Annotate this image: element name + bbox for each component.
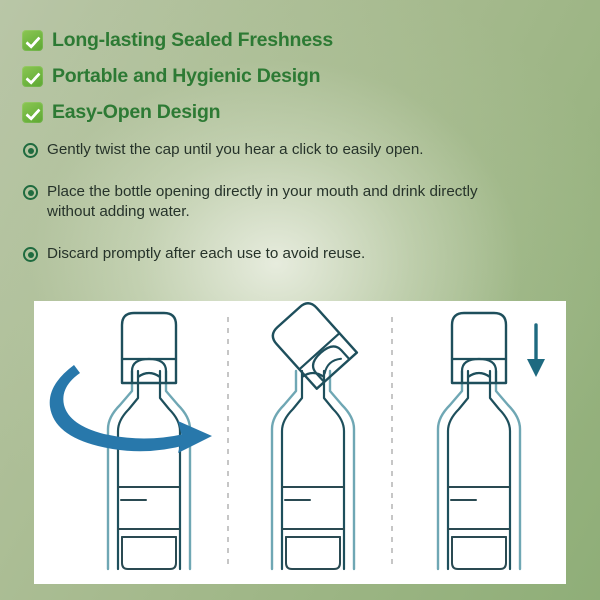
instruction-item: Discard promptly after each use to avoid…	[23, 244, 523, 264]
instruction-text: Gently twist the cap until you hear a cl…	[47, 140, 424, 160]
check-mark-button-icon	[22, 102, 43, 123]
bottle-outer-outline	[108, 371, 190, 569]
promo-page: Long-lasting Sealed Freshness Portable a…	[0, 0, 600, 600]
rotate-arrow-head	[178, 421, 212, 453]
remove-cap-panel	[269, 301, 357, 569]
bottle-base	[286, 537, 340, 569]
cap-body	[269, 301, 357, 389]
feature-item: Easy-Open Design	[22, 96, 562, 129]
bottle-base	[122, 537, 176, 569]
instruction-item: Gently twist the cap until you hear a cl…	[23, 140, 523, 160]
radio-dot-icon	[23, 185, 38, 200]
bottle-usage-diagram	[34, 301, 566, 584]
feature-label: Long-lasting Sealed Freshness	[52, 31, 333, 51]
check-mark-button-icon	[22, 30, 43, 51]
feature-item: Portable and Hygienic Design	[22, 60, 562, 93]
instruction-list: Gently twist the cap until you hear a cl…	[23, 140, 523, 286]
instruction-item: Place the bottle opening directly in you…	[23, 182, 523, 222]
removed-cap	[269, 301, 357, 389]
check-mark-button-icon	[22, 66, 43, 87]
feature-list: Long-lasting Sealed Freshness Portable a…	[22, 24, 562, 132]
bottle-outer-outline	[272, 371, 354, 569]
twist-cap-panel	[50, 313, 212, 569]
instruction-text: Discard promptly after each use to avoid…	[47, 244, 365, 264]
cap-band	[299, 333, 339, 369]
down-arrow	[527, 325, 545, 377]
press-cap-panel	[438, 313, 545, 569]
illustration-card	[34, 301, 566, 584]
feature-label: Easy-Open Design	[52, 103, 220, 123]
radio-dot-icon	[23, 143, 38, 158]
feature-item: Long-lasting Sealed Freshness	[22, 24, 562, 57]
cap-mouth-seal	[138, 373, 160, 377]
cap-mouth-seal	[468, 373, 490, 377]
bottle-base	[452, 537, 506, 569]
cap-inner-arch	[308, 341, 349, 382]
radio-dot-icon	[23, 247, 38, 262]
bottle-outer-outline	[438, 371, 520, 569]
feature-label: Portable and Hygienic Design	[52, 67, 320, 87]
instruction-text: Place the bottle opening directly in you…	[47, 182, 499, 222]
